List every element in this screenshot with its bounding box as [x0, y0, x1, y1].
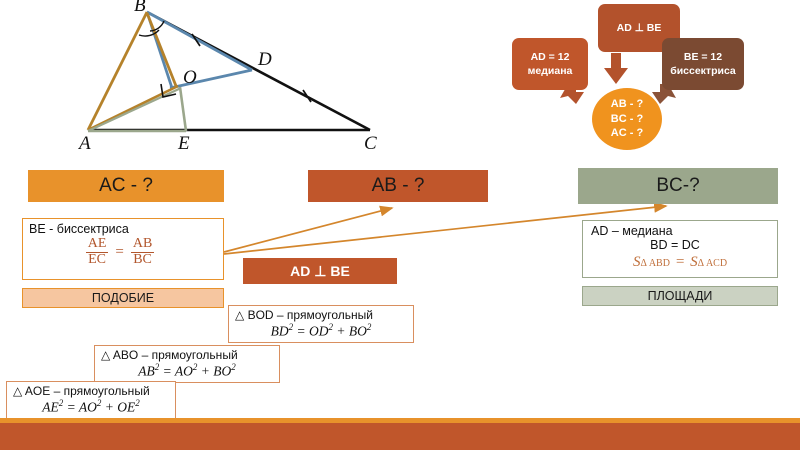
result-bar-ab[interactable]: AB - ?: [308, 170, 488, 202]
pythagoras-bod-title: △ BOD – прямоугольный: [235, 308, 407, 322]
bar-ad-perp-be[interactable]: AD ⊥ BE: [243, 258, 397, 284]
area-s1-sub: Δ ABD: [640, 258, 670, 269]
slide-canvas: B D O A E C AD ⊥ BE AD = 12 медиана BE =…: [0, 0, 800, 450]
pythagoras-abo-formula: AB2 = AO2 + BO2: [101, 362, 273, 380]
pythagoras-abo-title: △ ABO – прямоугольный: [101, 348, 273, 362]
segment-ao-olive: [88, 88, 181, 131]
flow-box-bisector-line1: BE = 12: [670, 50, 736, 64]
areas-equality: SΔ ABD = SΔ ACD: [591, 254, 777, 271]
flow-circle-unknowns[interactable]: AB - ? BC - ? AC - ?: [592, 88, 662, 150]
bisector-proportion: AE EC = AB BC: [29, 237, 223, 267]
tag-areas-label: ПЛОЩАДИ: [648, 289, 713, 303]
segment-ab-brown: [88, 12, 147, 130]
proportion-equals: =: [115, 244, 123, 261]
point-label-b: B: [134, 0, 146, 15]
fact-box-median-sub: BD = DC: [591, 238, 777, 252]
fraction-ab-bc: AB BC: [131, 237, 154, 267]
geometry-figure: B D O A E C: [0, 0, 400, 165]
pythagoras-box-bod: △ BOD – прямоугольный BD2 = OD2 + BO2: [228, 305, 414, 343]
pythagoras-aoe-formula: AE2 = AO2 + OE2: [13, 398, 169, 416]
flow-box-median-line1: AD = 12: [528, 50, 573, 64]
flow-box-median[interactable]: AD = 12 медиана: [512, 38, 588, 90]
triangle-drawing: [0, 0, 400, 165]
arrow-fact-to-ab: [224, 208, 392, 252]
result-bar-ac[interactable]: AC - ?: [28, 170, 224, 202]
flow-box-perpendicular-label: AD ⊥ BE: [617, 21, 662, 35]
pythagoras-box-aoe: △ AOE – прямоугольный AE2 = AO2 + OE2: [6, 381, 176, 419]
unknown-bc: BC - ?: [611, 112, 643, 127]
tag-similarity-label: ПОДОБИЕ: [92, 291, 154, 305]
flow-box-bisector[interactable]: BE = 12 биссектриса: [662, 38, 744, 90]
footer-band: [0, 423, 800, 450]
fact-box-bisector-title: BE - биссектриса: [29, 222, 223, 236]
result-bar-bc-label: BC-?: [656, 175, 699, 197]
result-bar-bc[interactable]: BC-?: [578, 168, 778, 204]
unknown-ac: AC - ?: [611, 126, 643, 141]
area-s2-sub: Δ ACD: [698, 258, 728, 269]
fraction-ae-numerator: AE: [86, 237, 109, 252]
point-label-o: O: [183, 68, 197, 87]
tag-similarity[interactable]: ПОДОБИЕ: [22, 288, 224, 308]
fraction-ab-numerator: AB: [131, 237, 154, 252]
point-label-d: D: [258, 50, 272, 69]
pythagoras-box-abo: △ ABO – прямоугольный AB2 = AO2 + BO2: [94, 345, 280, 383]
unknown-ab: AB - ?: [611, 97, 643, 112]
pythagoras-aoe-title: △ AOE – прямоугольный: [13, 384, 169, 398]
tag-areas[interactable]: ПЛОЩАДИ: [582, 286, 778, 306]
area-s2: SΔ ACD: [690, 254, 727, 271]
segment-ao-brown: [88, 86, 178, 130]
segment-eo-olive: [180, 87, 186, 131]
point-label-e: E: [178, 134, 190, 153]
fraction-ae-ec: AE EC: [86, 237, 109, 267]
fact-box-median: AD – медиана BD = DC SΔ ABD = SΔ ACD: [582, 220, 778, 278]
bar-ad-perp-be-label: AD ⊥ BE: [290, 263, 350, 280]
fraction-ec-denominator: EC: [86, 252, 108, 268]
fact-box-median-title: AD – медиана: [591, 224, 777, 238]
fraction-bc-denominator: BC: [131, 252, 154, 268]
area-s1: SΔ ABD: [633, 254, 670, 271]
point-label-a: A: [79, 134, 91, 153]
fact-box-bisector: BE - биссектриса AE EC = AB BC: [22, 218, 224, 280]
pythagoras-bod-formula: BD2 = OD2 + BO2: [235, 322, 407, 340]
areas-equals: =: [675, 254, 685, 271]
result-bar-ac-label: AC - ?: [99, 175, 153, 197]
flow-box-bisector-line2: биссектриса: [670, 64, 736, 78]
result-bar-ab-label: AB - ?: [372, 175, 425, 197]
arrow-down-to-circle: [604, 53, 628, 84]
flow-box-median-line2: медиана: [528, 64, 573, 78]
point-label-c: C: [364, 134, 377, 153]
